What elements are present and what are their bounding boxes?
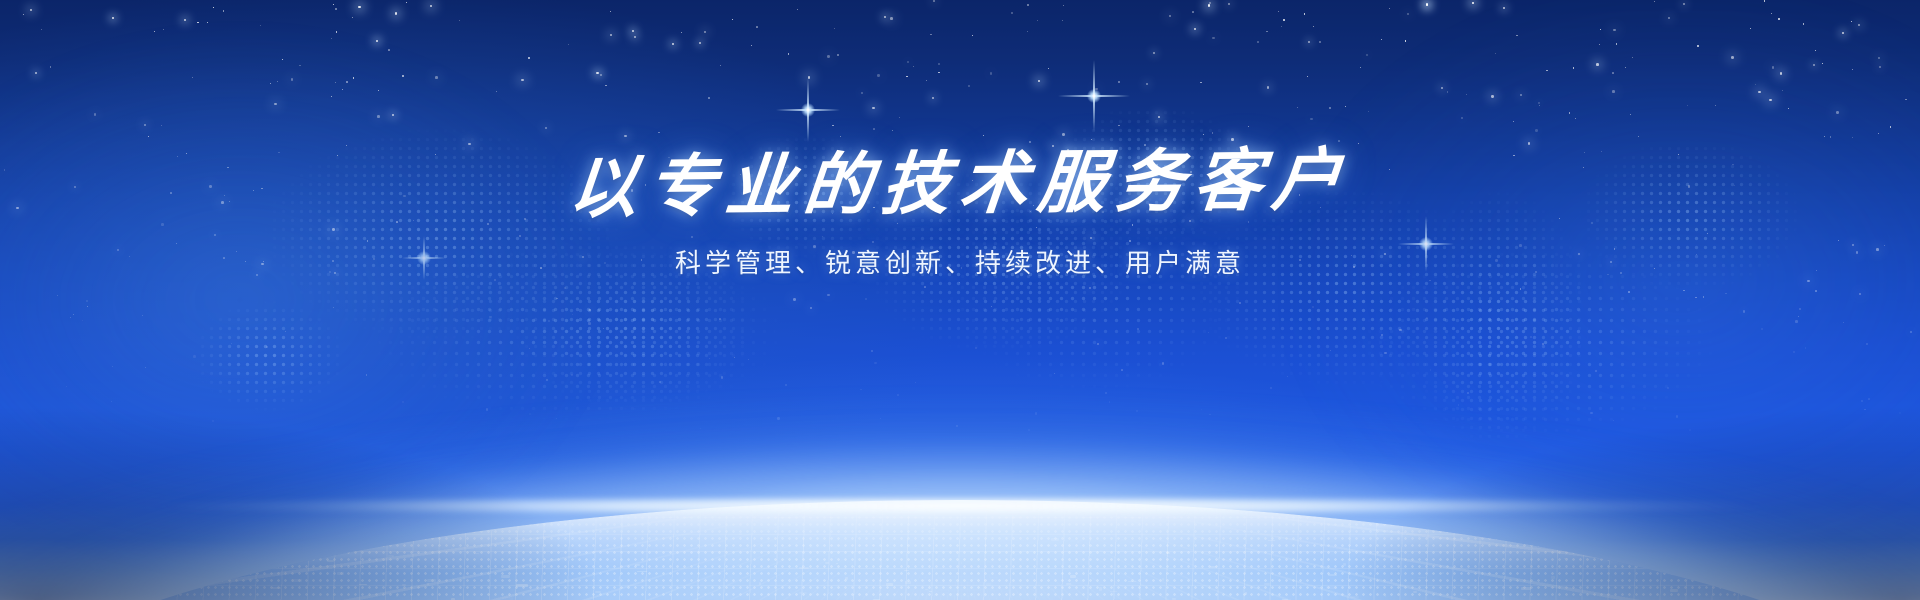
banner-headline: 以专业的技术服务客户 [0, 140, 1920, 228]
hero-banner: 以专业的技术服务客户 科学管理、锐意创新、持续改进、用户满意 [0, 0, 1920, 600]
sky-gradient-background [0, 0, 1920, 600]
banner-subline: 科学管理、锐意创新、持续改进、用户满意 [0, 248, 1920, 279]
banner-copy: 以专业的技术服务客户 科学管理、锐意创新、持续改进、用户满意 [0, 150, 1920, 279]
